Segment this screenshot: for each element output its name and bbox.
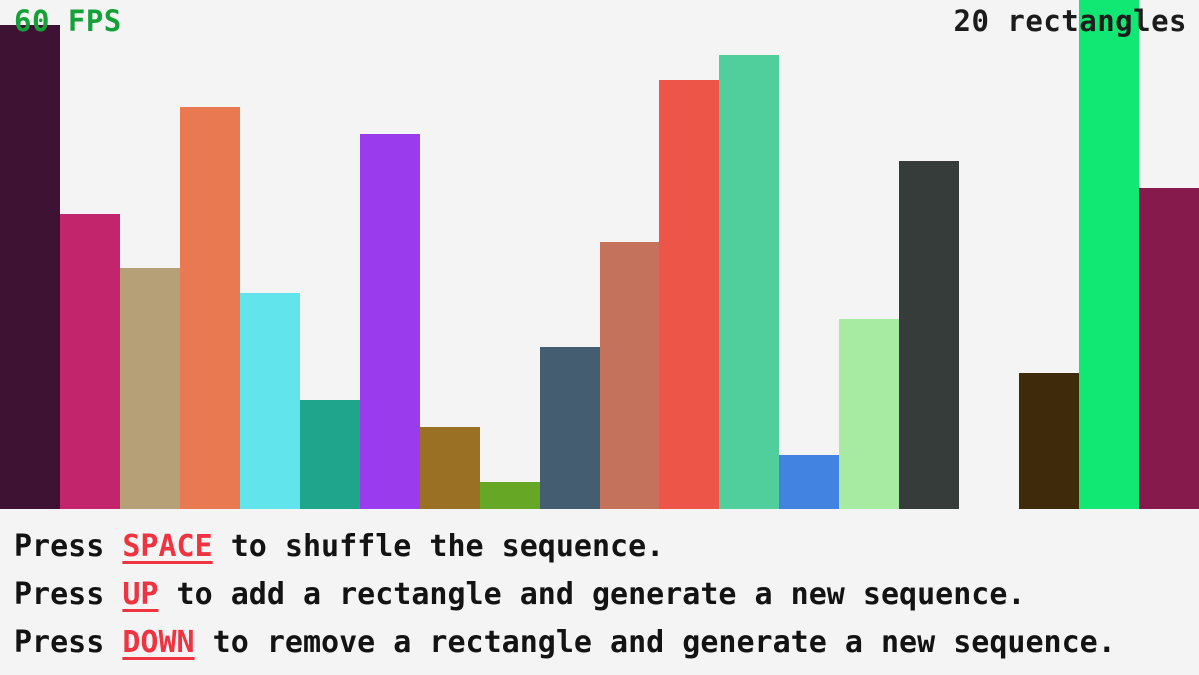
rectangle-bar [300,400,360,509]
rectangle-bar [180,107,240,509]
rectangle-bar [1079,0,1139,509]
rectangle-bar [480,482,540,509]
rectangle-bar [120,268,180,509]
rectangle-bar [240,293,300,509]
rectangle-bar [600,242,660,509]
rectangle-bar [719,55,779,509]
rectangle-bar [659,80,719,509]
rectangle-bar [0,25,60,509]
rectangle-bar [60,214,120,509]
rectangle-sequence-canvas[interactable] [0,0,1199,509]
rectangle-bar [540,347,600,509]
rectangle-bar [1139,188,1199,509]
instruction-suffix: to remove a rectangle and generate a new… [195,625,1116,660]
app-root: 60 FPS 20 rectangles Press SPACE to shuf… [0,0,1199,675]
rectangle-bar [420,427,480,509]
instruction-line: Press SPACE to shuffle the sequence. [14,523,1199,571]
instructions-panel: Press SPACE to shuffle the sequence.Pres… [0,509,1199,675]
rectangle-bar [779,455,839,509]
key-hint-up[interactable]: UP [122,577,158,612]
rectangle-bar [360,134,420,509]
rectangle-bar [839,319,899,509]
instruction-suffix: to add a rectangle and generate a new se… [159,577,1026,612]
instruction-prefix: Press [14,625,122,660]
rectangle-bar [899,161,959,509]
instruction-line: Press DOWN to remove a rectangle and gen… [14,619,1199,667]
rectangle-bar [1019,373,1079,509]
instruction-prefix: Press [14,577,122,612]
instruction-prefix: Press [14,529,122,564]
instruction-line: Press UP to add a rectangle and generate… [14,571,1199,619]
key-hint-space[interactable]: SPACE [122,529,212,564]
fps-counter: 60 FPS [14,7,122,36]
key-hint-down[interactable]: DOWN [122,625,194,660]
instruction-suffix: to shuffle the sequence. [213,529,665,564]
rectangle-count-label: 20 rectangles [954,7,1187,36]
